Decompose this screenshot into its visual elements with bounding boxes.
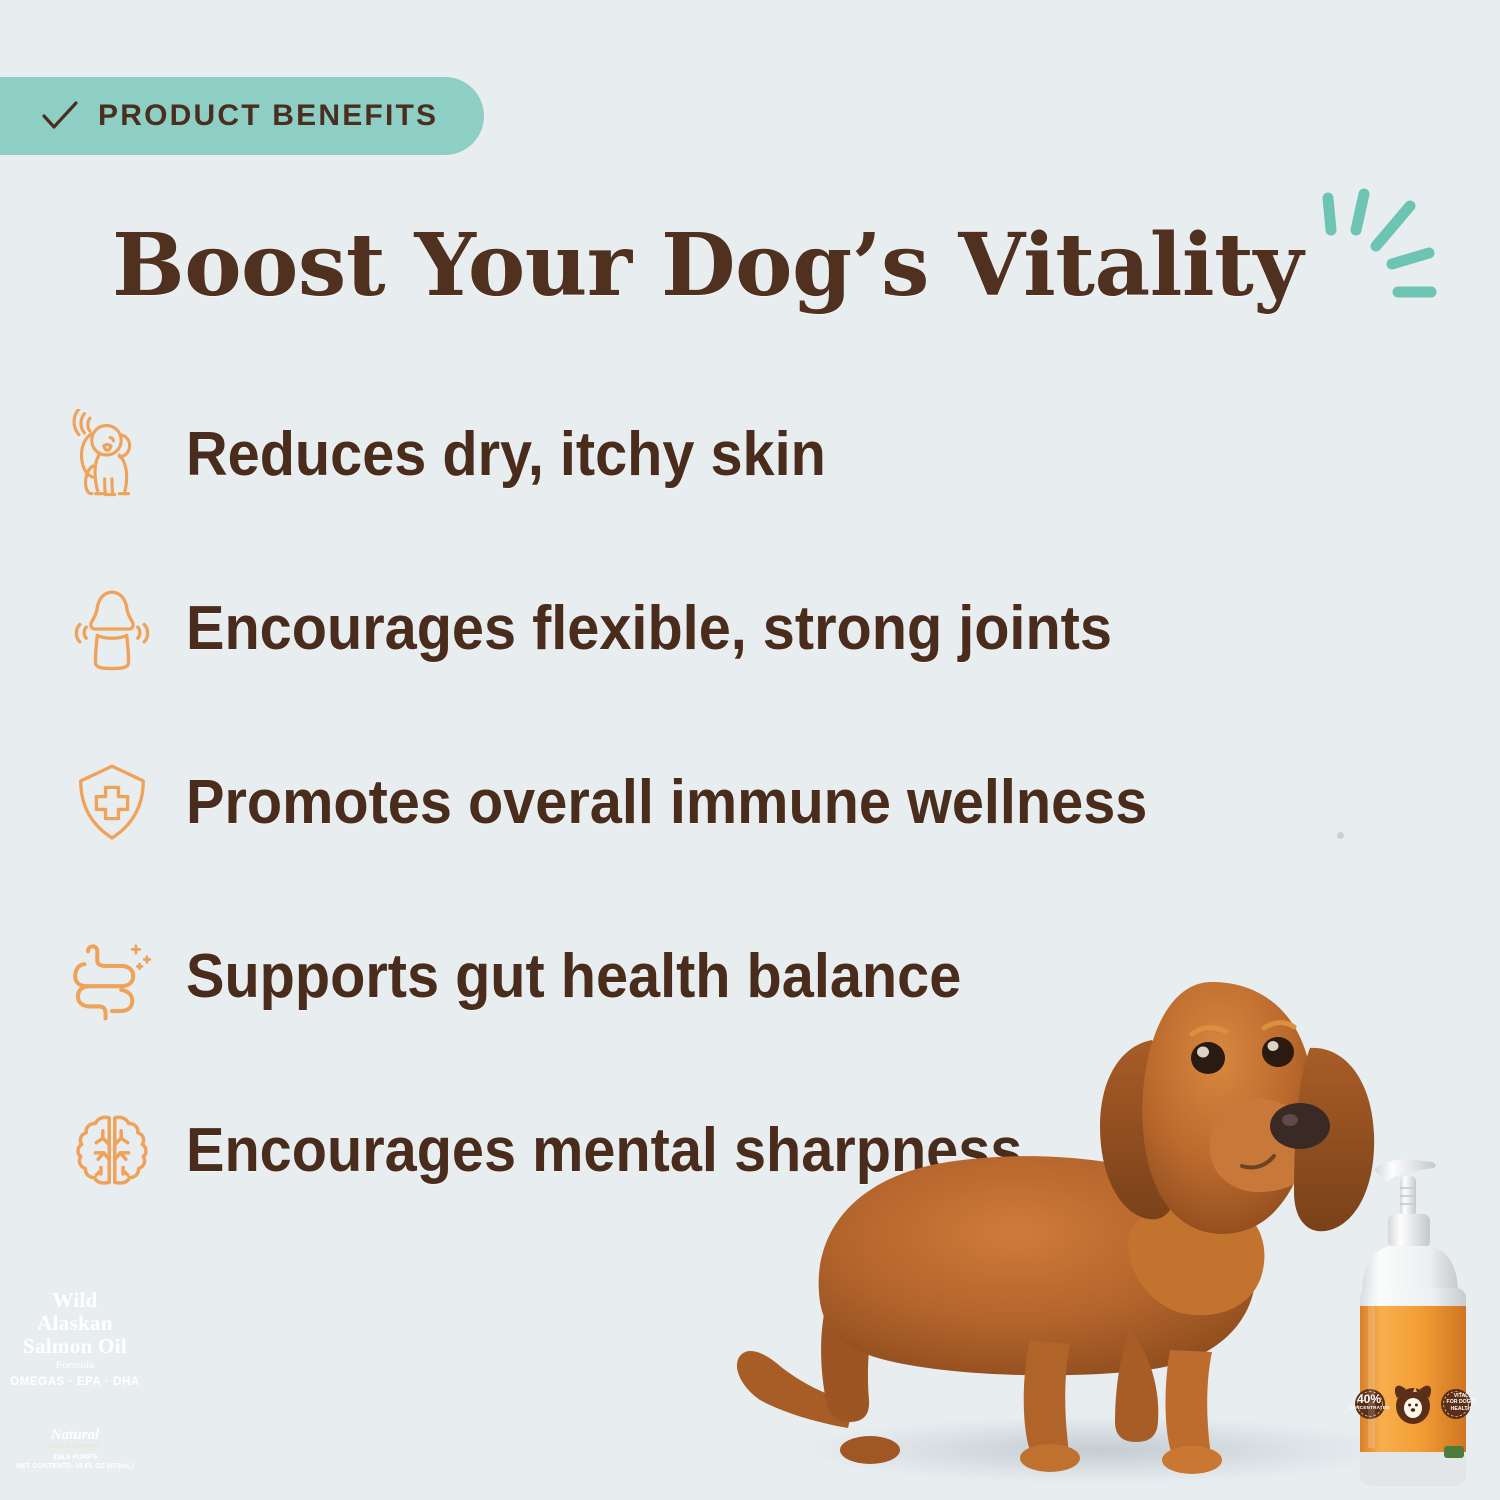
label-formula: Formula bbox=[0, 1359, 150, 1371]
salmon-oil-pump-bottle bbox=[1338, 1148, 1488, 1500]
benefit-label: Encourages mental sharpness bbox=[186, 1118, 1022, 1184]
label-brand: Natural bbox=[0, 1427, 150, 1444]
shield-cross-icon bbox=[62, 753, 162, 853]
infographic-canvas: PRODUCT BENEFITS Boost Your Dog’s Vitali… bbox=[0, 0, 1500, 1500]
label-actives: OMEGAS · EPA · DHA bbox=[0, 1376, 150, 1388]
dog-scratching-icon bbox=[62, 405, 162, 505]
benefit-label: Supports gut health balance bbox=[186, 944, 961, 1010]
joint-bone-icon bbox=[62, 579, 162, 679]
brain-icon bbox=[62, 1101, 162, 1201]
headline-block: Boost Your Dog’s Vitality bbox=[112, 218, 1432, 338]
label-line-alaskan: Alaskan bbox=[0, 1311, 150, 1336]
benefit-item: Reduces dry, itchy skin bbox=[62, 396, 1322, 514]
benefits-list: Reduces dry, itchy skin bbox=[62, 396, 1322, 1266]
benefit-item: Supports gut health balance bbox=[62, 918, 1322, 1036]
label-line-salmon-oil: Salmon Oil bbox=[0, 1334, 150, 1359]
benefit-item: Promotes overall immune wellness bbox=[62, 744, 1322, 862]
benefit-label: Promotes overall immune wellness bbox=[186, 770, 1147, 836]
intestine-icon bbox=[62, 927, 162, 1027]
label-net-contents: NET CONTENTS: 16 FL OZ (473mL) bbox=[0, 1463, 150, 1470]
benefit-label: Encourages flexible, strong joints bbox=[186, 596, 1112, 662]
benefit-item: Encourages flexible, strong joints bbox=[62, 570, 1322, 688]
badge-label: PRODUCT BENEFITS bbox=[98, 99, 438, 133]
label-pumps: 236.5 PUMPS bbox=[0, 1454, 150, 1461]
page-title: Boost Your Dog’s Vitality bbox=[112, 218, 1432, 314]
benefit-label: Reduces dry, itchy skin bbox=[186, 422, 826, 488]
check-icon bbox=[42, 101, 78, 131]
product-benefits-badge: PRODUCT BENEFITS bbox=[0, 77, 484, 155]
background-speck bbox=[1337, 832, 1344, 839]
label-brand-sub: DOG COMPANY bbox=[0, 1444, 150, 1450]
benefit-item: Encourages mental sharpness bbox=[62, 1092, 1322, 1210]
label-line-wild: Wild bbox=[0, 1288, 150, 1313]
